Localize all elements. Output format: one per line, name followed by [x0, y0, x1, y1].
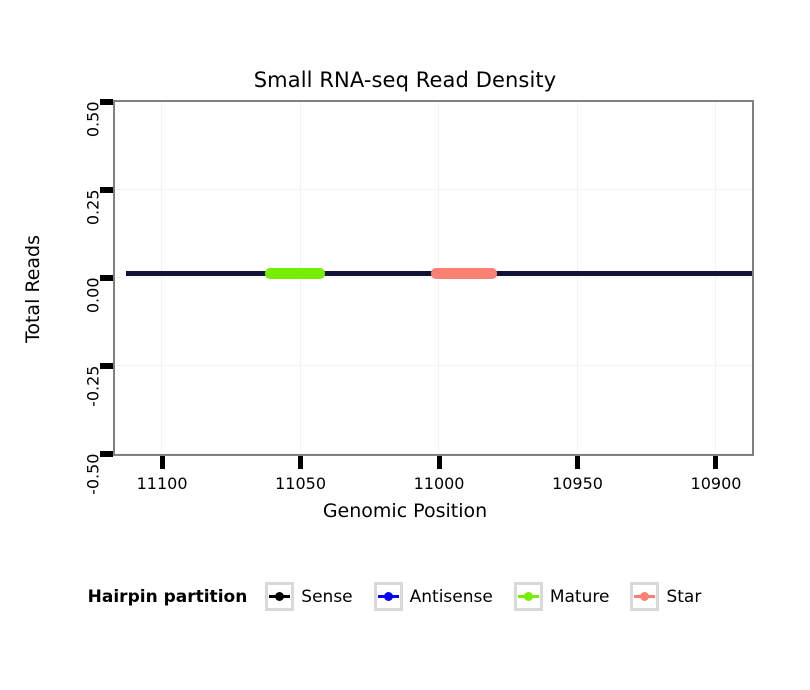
- legend-key-dot: [524, 592, 533, 601]
- x-tick-label: 11050: [275, 474, 326, 493]
- legend-entry-star[interactable]: Star: [630, 582, 712, 611]
- gridline-horizontal: [115, 453, 752, 454]
- x-tick-label: 10950: [552, 474, 603, 493]
- x-tick-label: 10900: [691, 474, 742, 493]
- y-axis-title: Total Reads: [22, 189, 44, 389]
- gridline-horizontal: [115, 101, 752, 102]
- legend-key-star-icon: [630, 582, 659, 611]
- legend-key-dot: [384, 592, 393, 601]
- x-axis-title: Genomic Position: [0, 500, 810, 522]
- legend-label: Mature: [550, 587, 610, 607]
- legend-key-mature-icon: [514, 582, 543, 611]
- legend-label: Antisense: [410, 587, 493, 607]
- gridline-vertical: [577, 102, 578, 454]
- legend-entries: SenseAntisenseMatureStar: [265, 582, 722, 611]
- legend-entry-mature[interactable]: Mature: [514, 582, 621, 611]
- x-tick-mark: [575, 456, 580, 469]
- plot-panel: [113, 100, 754, 456]
- x-tick-label: 11000: [414, 474, 465, 493]
- x-tick-mark: [437, 456, 442, 469]
- gridline-vertical: [715, 102, 716, 454]
- gridline-horizontal: [115, 189, 752, 190]
- legend-key-sense-icon: [265, 582, 294, 611]
- x-tick-label: 11100: [137, 474, 188, 493]
- legend-key-dot: [640, 592, 649, 601]
- series-mature: [265, 268, 326, 279]
- x-tick-mark: [298, 456, 303, 469]
- legend-key-dot: [275, 592, 284, 601]
- gridline-horizontal: [115, 365, 752, 366]
- legend-entry-sense[interactable]: Sense: [265, 582, 363, 611]
- chart-figure: Small RNA-seq Read Density 0.500.250.00-…: [0, 0, 810, 690]
- x-tick-mark: [160, 456, 165, 469]
- chart-legend: Hairpin partition SenseAntisenseMatureSt…: [0, 582, 810, 611]
- legend-label: Sense: [301, 587, 352, 607]
- series-star: [431, 268, 497, 279]
- x-tick-mark: [713, 456, 718, 469]
- legend-label: Star: [666, 587, 701, 607]
- gridline-vertical: [161, 102, 162, 454]
- legend-title: Hairpin partition: [88, 587, 248, 607]
- legend-key-antisense-icon: [374, 582, 403, 611]
- chart-title: Small RNA-seq Read Density: [0, 68, 810, 92]
- legend-entry-antisense[interactable]: Antisense: [374, 582, 504, 611]
